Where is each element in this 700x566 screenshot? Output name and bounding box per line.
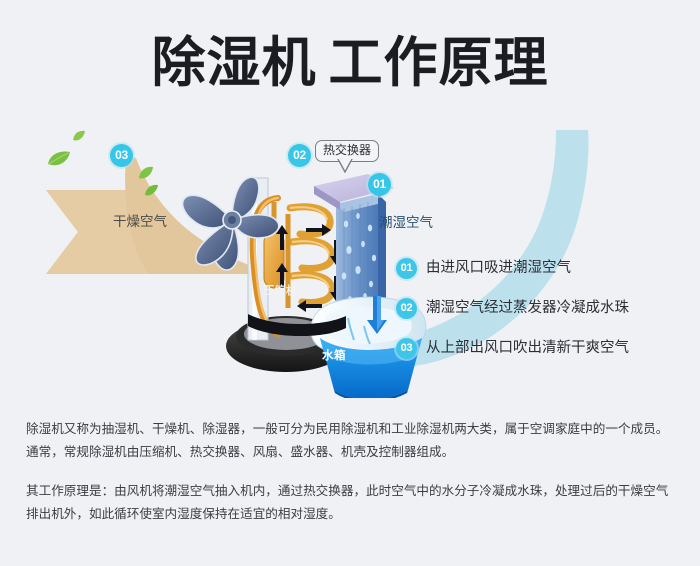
list-item: 03 从上部出风口吹出清新干爽空气 [396,336,686,376]
badge-02: 02 [288,144,311,167]
leaf-icon [46,150,72,168]
paragraph-1-line-1: 除湿机又称为抽湿机、干燥机、除湿器，一般可分为民用除湿机和工业除湿机两大类，属于… [26,418,678,441]
badge-03: 03 [110,144,133,167]
fan-icon [172,170,290,278]
step-text-03: 从上部出风口吹出清新干爽空气 [426,337,629,359]
step-badge-03: 03 [396,338,417,359]
step-text-02: 潮湿空气经过蒸发器冷凝成水珠 [426,297,629,319]
list-item: 01 由进风口吸进潮湿空气 [396,256,686,296]
page-title: 除湿机工作原理 [0,32,700,94]
description-section: 除湿机又称为抽湿机、干燥机、除湿器，一般可分为民用除湿机和工业除湿机两大类，属于… [26,418,678,526]
list-item: 02 潮湿空气经过蒸发器冷凝成水珠 [396,296,686,336]
callout-pointer-icon [337,159,353,172]
heat-exchanger-callout: 热交换器 [315,140,379,162]
paragraph-2: 其工作原理是：由风机将潮湿空气抽入机内，通过热交换器，此时空气中的水分子冷凝成水… [26,480,678,526]
dry-air-label: 干燥空气 [113,210,167,230]
step-text-01: 由进风口吸进潮湿空气 [426,257,571,279]
infographic-page: 除湿机工作原理 [0,0,700,566]
step-badge-01: 01 [396,258,417,279]
step-badge-02: 02 [396,298,417,319]
badge-01: 01 [368,173,391,196]
leaf-icon [144,184,159,197]
leaf-icon [138,166,154,180]
title-part-one: 除湿机 [152,33,317,93]
leaf-icon [72,130,86,142]
title-part-two: 工作原理 [329,33,549,93]
paragraph-1-line-2: 通常，常规除湿机由压缩机、热交换器、风扇、盛水器、机壳及控制器组成。 [26,441,678,464]
water-tank-label: 水箱 [322,347,346,363]
paragraph-2-line-1: 其工作原理是：由风机将潮湿空气抽入机内，通过热交换器，此时空气中的水分子冷凝成水… [26,480,678,503]
steps-list: 01 由进风口吸进潮湿空气 02 潮湿空气经过蒸发器冷凝成水珠 03 从上部出风… [396,256,686,376]
paragraph-1: 除湿机又称为抽湿机、干燥机、除湿器，一般可分为民用除湿机和工业除湿机两大类，属于… [26,418,678,464]
compressor-label: 压缩机 [263,282,298,298]
moist-air-label: 潮湿空气 [379,211,433,231]
paragraph-2-line-2: 排出机外，如此循环使室内湿度保持在适宜的相对湿度。 [26,503,678,526]
